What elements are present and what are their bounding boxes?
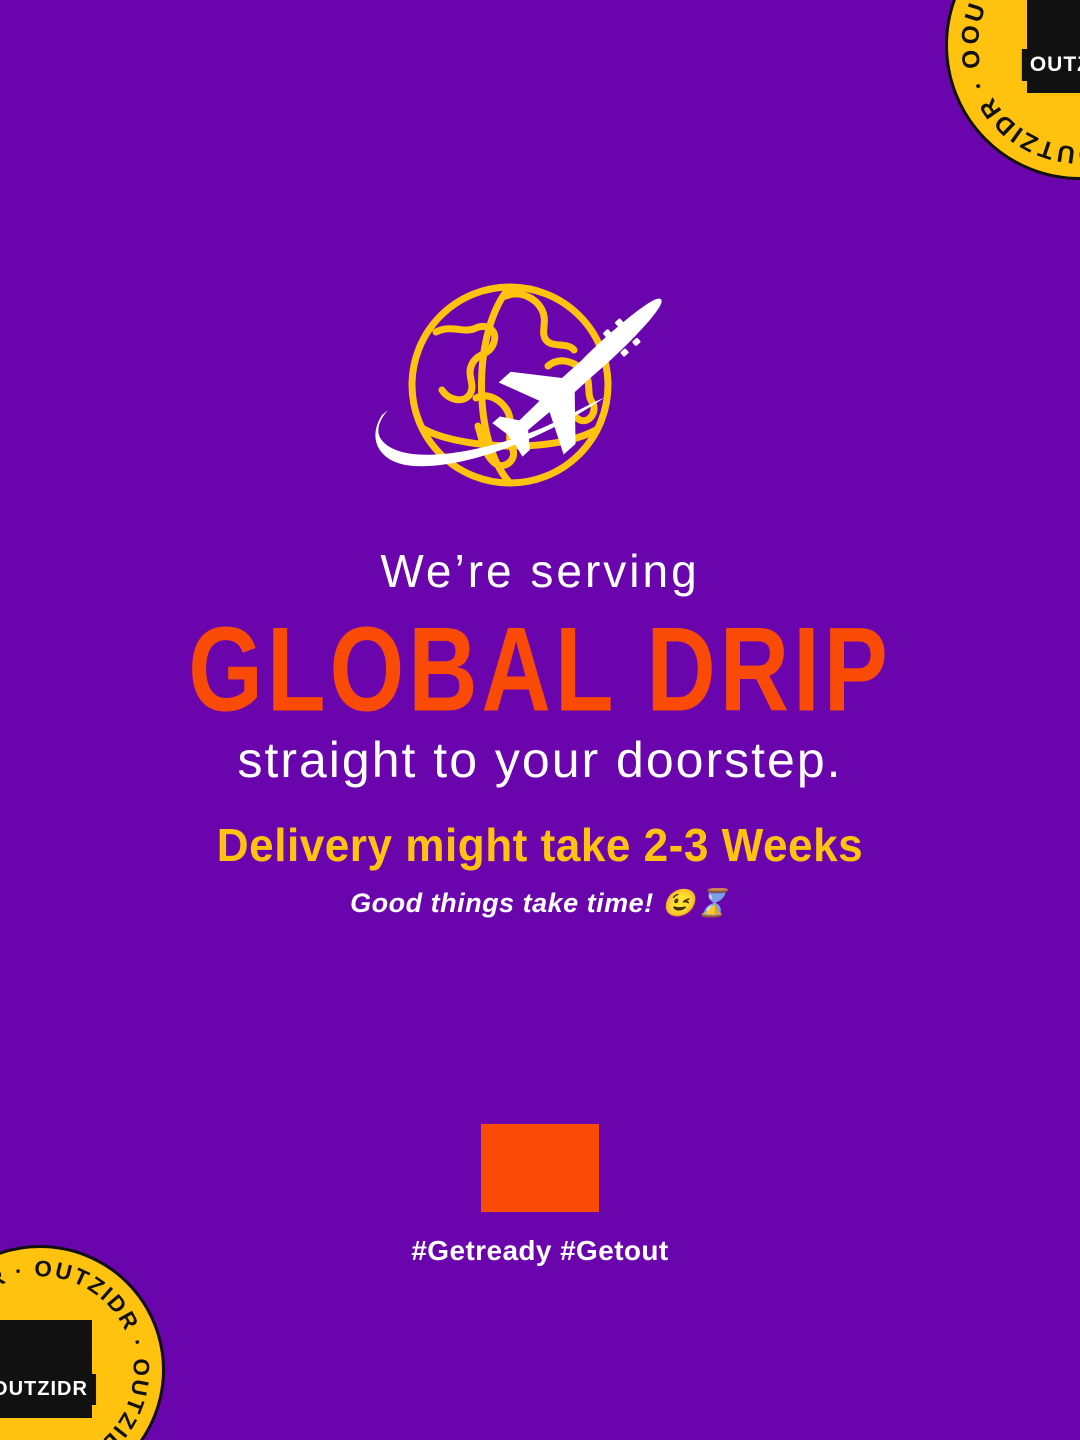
headline-eyebrow: We’re serving xyxy=(0,548,1080,594)
brand-badge-top-right: OUTZIDR · OUTZIDR · OUTZIDR · OUTZIDR · … xyxy=(945,0,1080,180)
globe-airplane-illustration xyxy=(360,280,710,510)
delivery-subtext: Good things take time! 😉⌛ xyxy=(0,890,1080,917)
delivery-notice: Delivery might take 2-3 Weeks xyxy=(22,822,1059,868)
brand-z-logo xyxy=(479,1122,601,1214)
badge-wordmark-top-right: OUTZIDR xyxy=(1022,49,1080,81)
badge-z-mark-bottom-left: OUTZIDR xyxy=(0,1318,96,1422)
headline-tail: straight to your doorstep. xyxy=(0,735,1080,785)
delivery-notice-block: Delivery might take 2-3 Weeks Good thing… xyxy=(0,822,1080,917)
brand-badge-bottom-left: OUTZIDR · OUTZIDR · OUTZIDR · OUTZIDR · … xyxy=(0,1245,165,1440)
promo-poster: OUTZIDR · OUTZIDR · OUTZIDR · OUTZIDR · … xyxy=(0,0,1080,1440)
footer-lockup: #Getready #Getout xyxy=(0,1122,1080,1267)
headline-block: We’re serving GLOBAL DRIP straight to yo… xyxy=(0,548,1080,785)
headline-main: GLOBAL DRIP xyxy=(0,608,1080,734)
footer-hashtags: #Getready #Getout xyxy=(0,1235,1080,1267)
badge-z-mark-top-right: OUTZIDR xyxy=(1021,0,1080,101)
badge-wordmark-bottom-left: OUTZIDR xyxy=(0,1374,96,1405)
